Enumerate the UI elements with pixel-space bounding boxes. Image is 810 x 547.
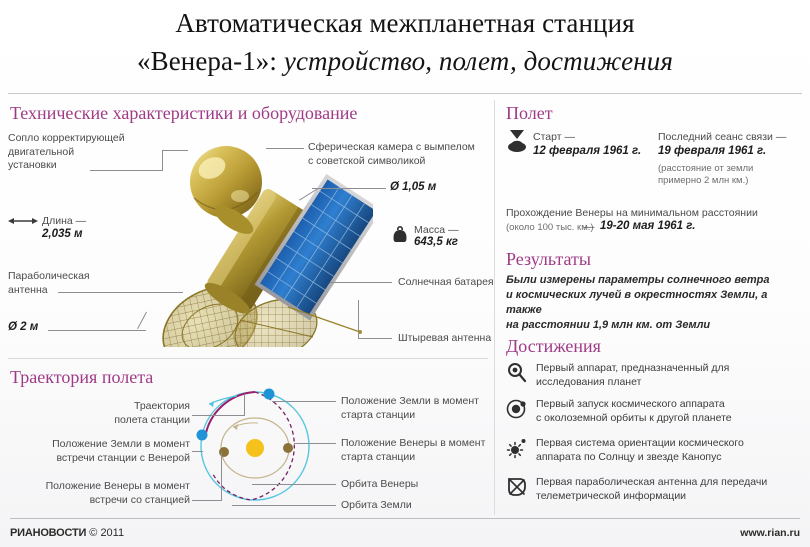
launch-icon xyxy=(506,128,528,154)
orbit-icon xyxy=(506,398,528,420)
weight-mass-icon xyxy=(392,225,408,243)
section-heading-trajectory: Траектория полета xyxy=(10,367,153,388)
label-venus-at-meeting: Положение Венеры в момент встречи со ста… xyxy=(10,480,190,507)
magnifier-icon xyxy=(506,362,528,384)
leader-venus-meeting-h xyxy=(192,500,221,501)
label-earth-at-launch: Положение Земли в момент старта станции xyxy=(341,395,496,422)
leader-camera-diameter-h xyxy=(312,188,386,189)
leader-whip-h xyxy=(358,338,392,339)
label-mass-value: 643,5 кг xyxy=(414,236,458,250)
leader-station-path-h xyxy=(192,415,244,416)
passage-dash: — xyxy=(584,221,595,235)
leader-earth-orbit-h xyxy=(232,505,336,506)
leader-solar-h xyxy=(330,282,392,283)
sun-marker xyxy=(246,439,264,457)
spherical-camera-graphic xyxy=(190,146,262,239)
section-heading-flight: Полет xyxy=(506,103,553,124)
footer-brand: РИАНОВОСТИ xyxy=(10,527,86,539)
label-start: Старт — xyxy=(533,131,575,145)
label-last-contact: Последний сеанс связи — xyxy=(658,131,786,145)
title-subject: «Венера-1»: xyxy=(137,46,277,76)
title-line-2: «Венера-1»: устройство, полет, достижени… xyxy=(0,42,810,80)
leader-venus-orbit-h xyxy=(252,484,336,485)
earth-direction-arrow xyxy=(209,401,214,407)
label-venus-at-launch: Положение Венеры в момент старта станции xyxy=(341,437,496,464)
footer-copyright-year: © 2011 xyxy=(89,527,124,539)
leader-nozzle-h xyxy=(90,170,162,171)
note-venus-passage-distance: (около 100 тыс. км.) xyxy=(506,222,594,234)
parabolic-antenna-icon xyxy=(506,476,528,498)
footer-website[interactable]: www.rian.ru xyxy=(740,527,800,539)
leader-earth-launch-h xyxy=(272,401,336,402)
results-text: Были измерены параметры солнечного ветра… xyxy=(506,273,806,333)
value-start-date: 12 февраля 1961 г. xyxy=(533,145,641,159)
section-heading-results: Результаты xyxy=(506,249,591,270)
label-spherical-camera: Сферическая камера с вымпелом с советско… xyxy=(308,141,498,168)
earth-at-launch-marker xyxy=(264,389,275,400)
page-title: Автоматическая межпланетная станция «Вен… xyxy=(0,4,810,80)
infographic-page: Автоматическая межпланетная станция «Вен… xyxy=(0,0,810,547)
value-last-contact-date: 19 февраля 1961 г. xyxy=(658,145,766,159)
label-venus-orbit: Орбита Венеры xyxy=(341,478,418,492)
header-divider xyxy=(8,93,802,94)
note-last-contact-distance: (расстояние от земли примерно 2 млн км.) xyxy=(658,163,803,187)
label-camera-diameter: Ø 1,05 м xyxy=(390,181,436,195)
leader-diameter-diag xyxy=(137,312,147,329)
leader-nozzle-h2 xyxy=(162,150,188,151)
label-whip-antenna: Штыревая антенна xyxy=(398,332,491,346)
leader-earth-meeting-h xyxy=(192,451,203,452)
achievement-text-3: Первая система ориентации космического а… xyxy=(536,437,744,464)
leader-venus-meeting-v xyxy=(221,452,222,501)
leader-whip-v xyxy=(358,300,359,339)
leader-station-path-v xyxy=(244,394,245,416)
venus-at-launch-marker xyxy=(283,443,293,453)
title-subtitle: устройство, полет, достижения xyxy=(284,46,673,76)
label-solar-battery: Солнечная батарея xyxy=(398,276,494,290)
footer-divider xyxy=(10,518,800,519)
sun-star-icon xyxy=(506,437,528,459)
trajectory-section-divider xyxy=(8,358,488,359)
leader-nozzle-v xyxy=(162,150,163,171)
achievement-text-1: Первый аппарат, предназначенный для иссл… xyxy=(536,362,729,389)
achievement-text-2: Первый запуск космического аппарата с ок… xyxy=(536,398,732,425)
section-heading-tech: Технические характеристики и оборудовани… xyxy=(10,103,357,124)
leader-diameter-h xyxy=(48,330,146,331)
label-antenna-diameter: Ø 2 м xyxy=(8,321,38,335)
value-venus-passage-date: 19-20 мая 1961 г. xyxy=(600,220,695,234)
leader-camera-h xyxy=(266,148,304,149)
title-line-1: Автоматическая межпланетная станция xyxy=(0,4,810,42)
label-venus-passage: Прохождение Венеры на минимальном рассто… xyxy=(506,207,806,221)
achievement-text-4: Первая параболическая антенна для переда… xyxy=(536,476,767,503)
leader-parabolic-h xyxy=(58,292,183,293)
label-length-name: Длина — xyxy=(42,215,86,229)
label-length-value: 2,035 м xyxy=(42,228,82,242)
footer-copyright: РИАНОВОСТИ © 2011 xyxy=(10,527,124,539)
label-earth-orbit: Орбита Земли xyxy=(341,499,412,513)
length-arrow-icon xyxy=(8,216,38,226)
label-nozzle: Сопло корректирующей двигательной устано… xyxy=(8,132,148,173)
earth-at-meeting-marker xyxy=(197,430,208,441)
leader-venus-launch-h xyxy=(294,443,336,444)
section-heading-achievements: Достижения xyxy=(506,336,601,357)
label-station-path: Траектория полета станции xyxy=(60,400,190,427)
label-earth-at-meeting: Положение Земли в момент встречи станции… xyxy=(10,438,190,465)
